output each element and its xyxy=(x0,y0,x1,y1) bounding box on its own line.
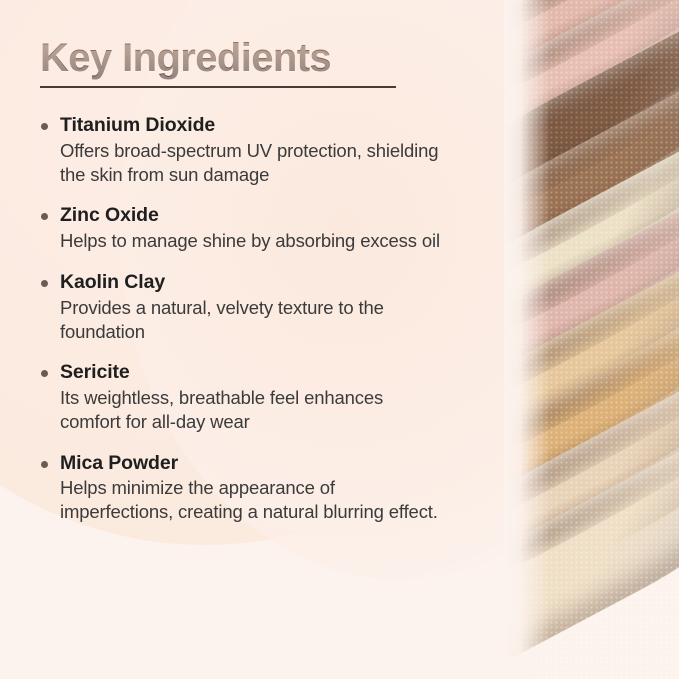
page-title: Key Ingredients xyxy=(40,36,331,80)
ingredient-name: Sericite xyxy=(60,360,448,385)
bullet-icon xyxy=(41,123,48,130)
list-item: Sericite Its weightless, breathable feel… xyxy=(38,360,448,433)
ingredients-list: Titanium Dioxide Offers broad-spectrum U… xyxy=(38,113,448,541)
powder-swatch-photo xyxy=(504,0,679,679)
ingredient-description: Its weightless, breathable feel enhances… xyxy=(60,386,448,433)
ingredient-description: Provides a natural, velvety texture to t… xyxy=(60,296,448,343)
list-item: Titanium Dioxide Offers broad-spectrum U… xyxy=(38,113,448,186)
bullet-icon xyxy=(41,370,48,377)
ingredient-description: Helps to manage shine by absorbing exces… xyxy=(60,229,448,253)
swatch-stripe-stack xyxy=(504,0,679,679)
ingredient-name: Zinc Oxide xyxy=(60,203,448,228)
list-item: Zinc Oxide Helps to manage shine by abso… xyxy=(38,203,448,253)
ingredient-name: Mica Powder xyxy=(60,451,448,476)
list-item: Kaolin Clay Provides a natural, velvety … xyxy=(38,270,448,343)
ingredient-name: Titanium Dioxide xyxy=(60,113,448,138)
list-item: Mica Powder Helps minimize the appearanc… xyxy=(38,451,448,524)
text-content-column: Key Ingredients Titanium Dioxide Offers … xyxy=(0,0,470,679)
bullet-icon xyxy=(41,213,48,220)
ingredients-infographic: Key Ingredients Titanium Dioxide Offers … xyxy=(0,0,679,679)
ingredient-name: Kaolin Clay xyxy=(60,270,448,295)
ingredient-description: Helps minimize the appearance of imperfe… xyxy=(60,476,448,523)
bullet-icon xyxy=(41,461,48,468)
bullet-icon xyxy=(41,280,48,287)
title-underline xyxy=(40,86,396,88)
ingredient-description: Offers broad-spectrum UV protection, shi… xyxy=(60,139,448,186)
